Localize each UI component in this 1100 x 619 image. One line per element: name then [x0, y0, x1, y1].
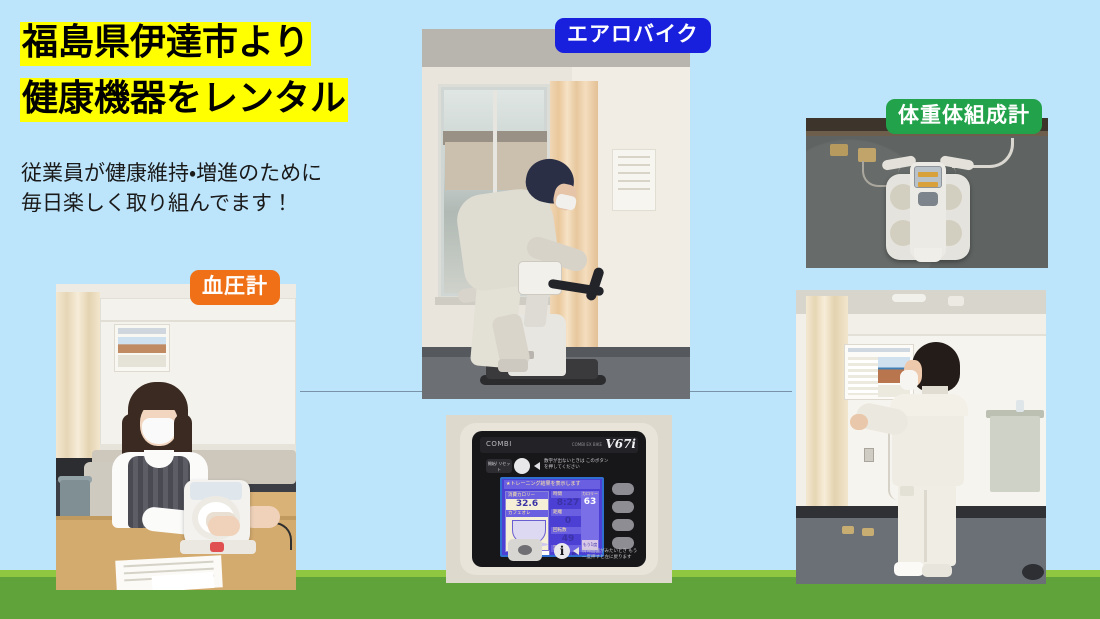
wall-outlet	[864, 448, 874, 462]
screen-header: ★トレーニング結果を表示します	[504, 480, 600, 489]
person-hand-left	[208, 516, 240, 536]
screen-right-column: カロリー 63 もう1度	[581, 491, 599, 552]
console-panel: COMBI COMBI EX BIKE V67i 開始/ リセット 数字が出ない…	[472, 431, 646, 567]
bike-console	[518, 261, 562, 295]
wall-poster	[114, 324, 170, 372]
console-side-button-1[interactable]	[612, 483, 634, 495]
console-side-button-3[interactable]	[612, 519, 634, 531]
scale-front-foot	[914, 248, 942, 262]
ceiling-light	[892, 294, 926, 302]
console-model-label: V67i	[605, 437, 636, 451]
cabinet	[990, 416, 1040, 492]
arrow-left-icon	[534, 462, 540, 470]
screen-cell-value: 0	[551, 516, 585, 527]
person-shoe-right	[922, 564, 952, 577]
console-side-button-2[interactable]	[612, 501, 634, 513]
arrow-left-icon	[573, 547, 579, 555]
floor-object	[842, 526, 854, 534]
screen-cell-label: 距離	[551, 509, 585, 516]
console-round-button[interactable]	[514, 458, 530, 474]
info-icon: i	[554, 543, 570, 559]
screen-cell-label: 消費カロリー	[506, 492, 548, 499]
console-model-sub: COMBI EX BIKE	[572, 442, 602, 447]
screen-cell-label: 回転数	[551, 527, 585, 534]
screen-cell-value: 8:27	[551, 498, 585, 509]
wall-chart-photo	[796, 290, 1046, 584]
body-composition-photo	[806, 118, 1048, 268]
scale-grip	[918, 192, 938, 206]
ceiling-fixture	[948, 296, 964, 306]
person-hand	[850, 414, 868, 430]
hanging-cord	[888, 430, 904, 500]
bottle	[1016, 400, 1024, 412]
screen-cell-label: 時間	[551, 491, 585, 498]
wood-block-right	[858, 148, 876, 162]
console-note-top: 数字が出ないときは このボタンを押してください	[544, 459, 610, 471]
wood-block-left	[830, 144, 848, 156]
page-title: 福島県伊達市より 健康機器をレンタル	[20, 22, 348, 122]
slide-canvas: 福島県伊達市より 健康機器をレンタル 従業員が健康維持・増進のために 毎日楽しく…	[0, 0, 1100, 619]
bike-console-photo: COMBI COMBI EX BIKE V67i 開始/ リセット 数字が出ない…	[446, 415, 672, 583]
rider-shoe	[498, 359, 528, 372]
person-bangs	[136, 392, 182, 410]
screen-food-label: カフェオレ	[506, 510, 548, 517]
wall-poster	[612, 149, 656, 211]
console-reset-button[interactable]: 開始/ リセット	[486, 459, 512, 473]
wall-seam	[828, 334, 1046, 336]
person-leg-seam	[924, 490, 927, 562]
screen-cell-value: 49	[551, 534, 585, 545]
console-reset-label: 開始/ リセット	[486, 461, 512, 473]
curtain	[806, 296, 848, 510]
scale-display	[914, 166, 942, 188]
title-line-2: 健康機器をレンタル	[20, 78, 348, 122]
screen-cell-value: 32.6	[506, 499, 548, 510]
badge-blood-pressure: 血圧計	[190, 270, 280, 305]
curtain	[550, 81, 598, 349]
blood-pressure-photo	[56, 284, 296, 590]
subtitle-text: 従業員が健康維持・増進のために 毎日楽しく取り組んでます！	[21, 158, 322, 218]
floor-shadow	[1022, 564, 1044, 580]
console-note-bottom: 情報画面がみたいとき もう一度押すと左に戻ります	[582, 549, 638, 561]
screen-mid-column: 時間 8:27 距離 0 回転数 49 消費量 235	[551, 491, 585, 552]
console-brand-label: COMBI	[486, 440, 512, 448]
badge-aero-bike: エアロバイク	[555, 18, 711, 53]
console-side-button-4[interactable]	[612, 537, 634, 549]
aero-bike-photo	[422, 29, 690, 399]
person-mask	[900, 370, 918, 390]
title-line-1: 福島県伊達市より	[20, 22, 311, 66]
console-main-button[interactable]	[508, 539, 542, 561]
floor-object	[862, 528, 874, 536]
paper-document-2	[152, 572, 215, 590]
screen-right-value: 63	[581, 497, 599, 507]
badge-body-composition: 体重体組成計	[886, 99, 1042, 134]
person-shoe-left	[894, 562, 924, 576]
bp-start-button	[210, 542, 224, 552]
